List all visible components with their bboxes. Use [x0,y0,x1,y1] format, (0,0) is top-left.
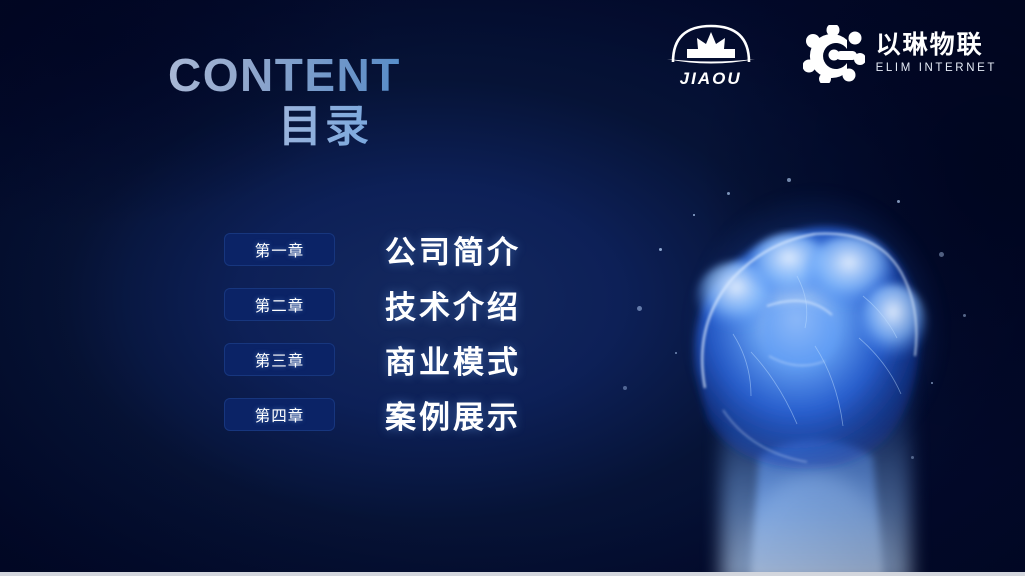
chapter-item-2[interactable]: 第二章 技术介绍 [224,277,521,332]
chapter-badge-label-4: 第四章 [255,404,305,426]
jiaou-wordmark: JIAOU [680,69,742,89]
chapter-badge-label-1: 第一章 [255,239,305,261]
slide-bottom-edge [0,572,1025,576]
presentation-slide: CONTENT 目录 JIAOU [0,0,1025,576]
chapter-title-2[interactable]: 技术介绍 [385,282,521,327]
jiaou-logo: JIAOU [663,18,759,89]
elim-g-node-icon [803,25,865,83]
chapter-title-1[interactable]: 公司简介 [385,227,521,272]
chapter-badge-4[interactable]: 第四章 [224,398,335,431]
title-english: CONTENT [168,52,548,98]
chapter-badge-1[interactable]: 第一章 [224,233,335,266]
chapter-badge-label-2: 第二章 [255,294,305,316]
chapter-title-3[interactable]: 商业模式 [385,337,521,382]
chapter-list: 第一章 公司简介 第二章 技术介绍 第三章 商业模式 第四章 案例展示 [224,222,521,442]
logo-group: JIAOU 以琳物联 EL [663,18,997,89]
chapter-item-3[interactable]: 第三章 商业模式 [224,332,521,387]
jiaou-mark-icon [663,18,759,68]
page-title: CONTENT 目录 [168,52,548,150]
chapter-title-4[interactable]: 案例展示 [385,392,521,437]
chapter-item-1[interactable]: 第一章 公司简介 [224,222,521,277]
elim-wordmark: 以琳物联 ELIM INTERNET [876,33,997,75]
title-chinese: 目录 [278,104,548,150]
elim-name-cn: 以琳物联 [876,33,997,58]
chapter-badge-label-3: 第三章 [255,349,305,371]
elim-name-en: ELIM INTERNET [876,63,997,75]
elim-logo: 以琳物联 ELIM INTERNET [803,25,997,83]
chapter-item-4[interactable]: 第四章 案例展示 [224,387,521,442]
chapter-badge-2[interactable]: 第二章 [224,288,335,321]
chapter-badge-3[interactable]: 第三章 [224,343,335,376]
